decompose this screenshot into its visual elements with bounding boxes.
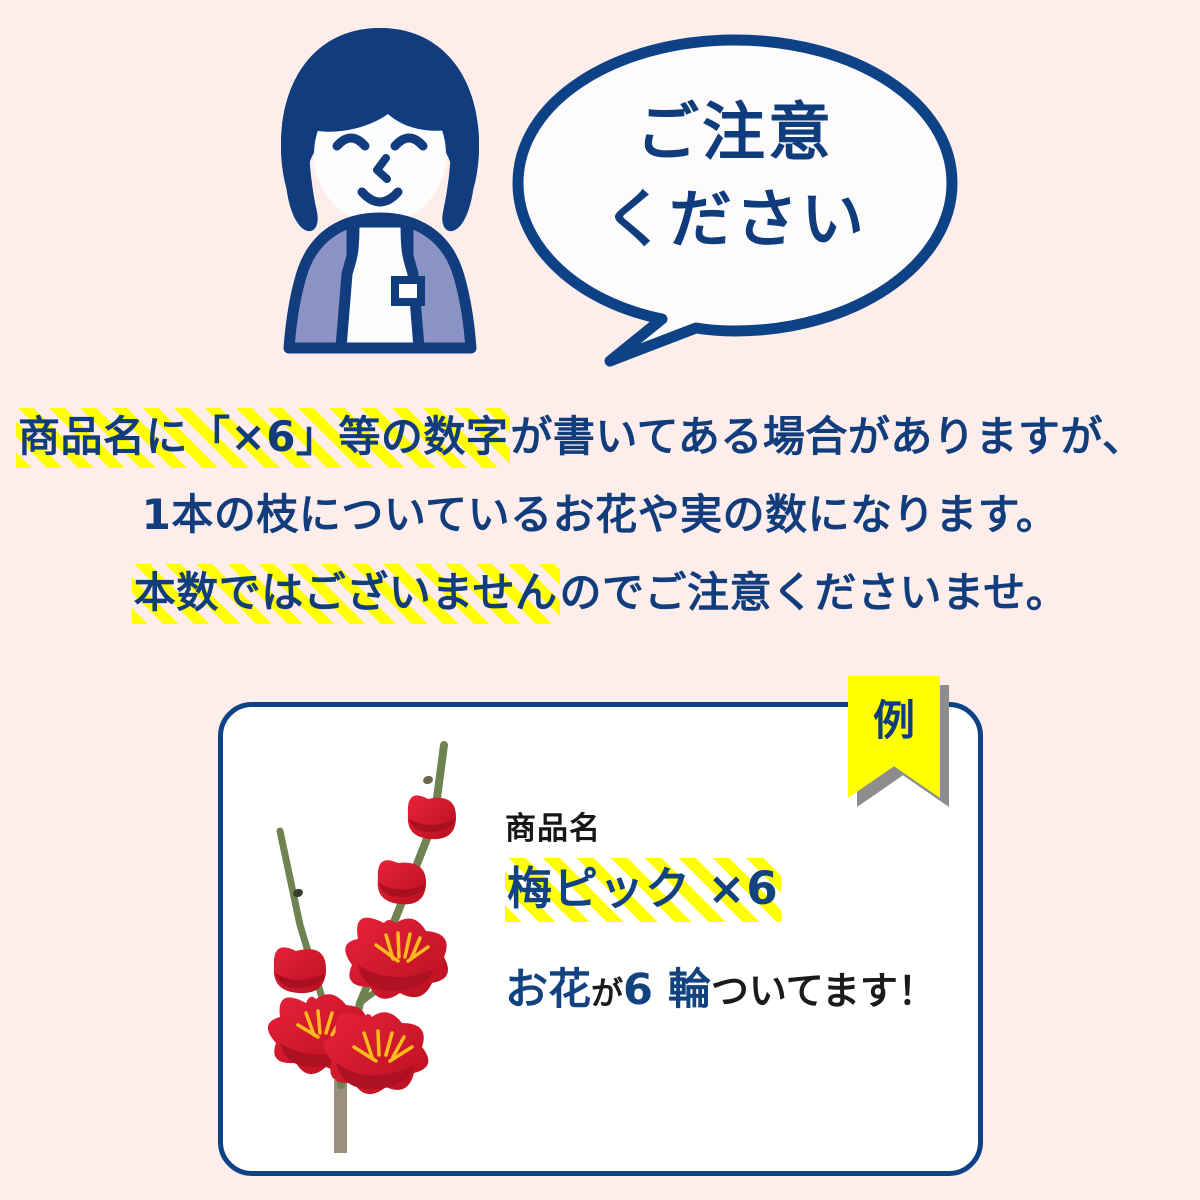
notice-line-3: 本数ではございませんのでご注意くださいませ。 (0, 554, 1200, 632)
product-name-value: 梅ピック ×6 (505, 860, 781, 918)
notice-line-3-rest: のでご注意くださいませ。 (560, 568, 1069, 617)
plum-flower-upper (345, 918, 448, 999)
plum-flower-lower-center (324, 1012, 429, 1094)
notice-line-2: 1本の枝についているお花や実の数になります。 (0, 476, 1200, 554)
example-card-note: お花が6 輪ついてます！ (505, 964, 975, 1018)
note-part-flower: お花 (505, 965, 591, 1015)
plum-bud-left (274, 947, 326, 993)
ribbon-label: 例 (848, 700, 940, 742)
notice-line-1-highlight: 商品名に「×6」等の数字 (16, 408, 510, 468)
note-part-count: 6 輪 (623, 965, 711, 1015)
speech-bubble-shape (500, 28, 970, 373)
notice-paragraph: 商品名に「×6」等の数字が書いてある場合がありますが、 1本の枝についているお花… (0, 398, 1200, 632)
speech-bubble: ご注意 ください (500, 28, 970, 373)
product-name-highlight: 梅ピック ×6 (505, 858, 781, 922)
notice-line-1: 商品名に「×6」等の数字が書いてある場合がありますが、 (0, 398, 1200, 476)
note-part-tail: ついてます！ (711, 969, 936, 1013)
plum-bud-upper (378, 860, 426, 904)
note-part-ga: が (591, 974, 623, 1012)
example-card-body: 商品名 梅ピック ×6 お花が6 輪ついてます！ (505, 812, 975, 1017)
plum-bud-top (408, 795, 456, 839)
hero-section: ご注意 ください (0, 0, 1200, 390)
notice-line-1-rest: が書いてある場合がありますが、 (510, 412, 1144, 461)
notice-page: ご注意 ください 商品名に「×6」等の数字が書いてある場合がありますが、 1本の… (0, 0, 1200, 1200)
example-ribbon-badge: 例 (848, 676, 940, 798)
notice-line-3-highlight: 本数ではございません (132, 564, 560, 624)
shop-clerk-illustration (255, 22, 505, 367)
plum-branch-illustration (248, 735, 498, 1155)
product-name-label: 商品名 (505, 812, 975, 846)
